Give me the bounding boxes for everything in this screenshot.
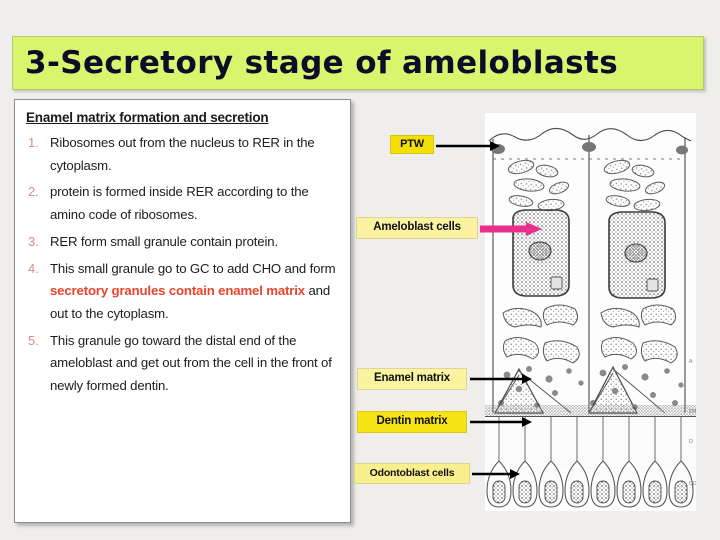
step-item: 1.Ribosomes out from the nucleus to RER …	[24, 132, 340, 177]
ameloblast-histology-image: A EM D OD	[485, 113, 696, 511]
step-item: 2.protein is formed inside RER according…	[24, 181, 340, 226]
svg-text:OD: OD	[689, 481, 696, 487]
step-item: 3.RER form small granule contain protein…	[24, 231, 340, 254]
histology-diagram-area: A EM D OD PTW Ameloblast cells Enam	[352, 99, 708, 525]
svg-text:D: D	[689, 439, 693, 445]
step-text: This granule go toward the distal end of…	[50, 333, 332, 393]
step-item: 4.This small granule go to GC to add CHO…	[24, 258, 340, 326]
step-text: protein is formed inside RER according t…	[50, 184, 309, 222]
step-text-segment: Ribosomes out from the nucleus to RER in…	[50, 135, 315, 173]
label-dentin-matrix: Dentin matrix	[357, 411, 467, 433]
svg-text:EM: EM	[689, 409, 696, 415]
arrow-dentin-matrix	[470, 416, 532, 428]
arrow-odontoblast-cells	[472, 468, 520, 480]
step-item: 5.This granule go toward the distal end …	[24, 330, 340, 398]
slide-title-bar: 3-Secretory stage of ameloblasts	[12, 36, 704, 90]
arrow-ptw	[436, 140, 500, 152]
step-text: Ribosomes out from the nucleus to RER in…	[50, 135, 315, 173]
step-number: 3.	[28, 231, 39, 253]
enamel-matrix-text-panel: Enamel matrix formation and secretion 1.…	[14, 99, 351, 523]
step-text-segment: protein is formed inside RER according t…	[50, 184, 309, 222]
arrow-enamel-matrix	[470, 373, 532, 385]
step-number: 2.	[28, 181, 39, 203]
step-text-segment: This granule go toward the distal end of…	[50, 333, 332, 393]
step-text-highlight: secretory granules contain enamel matrix	[50, 283, 305, 298]
label-ptw: PTW	[390, 135, 434, 154]
panel-heading: Enamel matrix formation and secretion	[26, 110, 340, 125]
slide-canvas: 3-Secretory stage of ameloblasts Enamel …	[0, 0, 720, 540]
label-enamel-matrix: Enamel matrix	[357, 368, 467, 390]
label-odontoblast-cells: Odontoblast cells	[354, 463, 470, 484]
step-text: This small granule go to GC to add CHO a…	[50, 261, 335, 321]
step-number: 1.	[28, 132, 39, 154]
step-text-segment: RER form small granule contain protein.	[50, 234, 278, 249]
step-number: 4.	[28, 258, 39, 280]
steps-list: 1.Ribosomes out from the nucleus to RER …	[24, 132, 340, 398]
step-text: RER form small granule contain protein.	[50, 234, 278, 249]
step-number: 5.	[28, 330, 39, 352]
label-ameloblast-cells: Ameloblast cells	[356, 217, 478, 239]
svg-text:A: A	[689, 359, 693, 365]
arrow-ameloblast-cells	[480, 221, 542, 237]
page-title: 3-Secretory stage of ameloblasts	[13, 48, 618, 79]
step-text-segment: This small granule go to GC to add CHO a…	[50, 261, 335, 276]
